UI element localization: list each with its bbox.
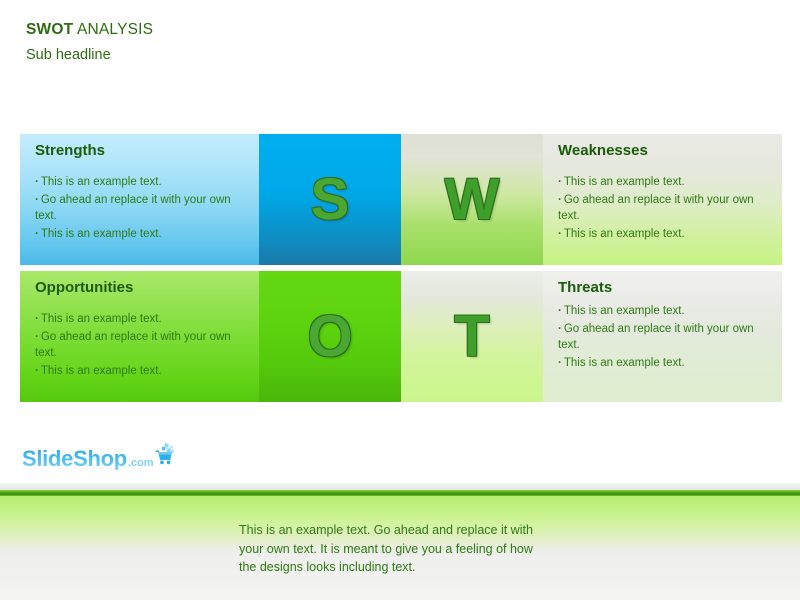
swot-row-bottom: Opportunities This is an example text. G… bbox=[20, 271, 782, 402]
footer-line-3: the designs looks including text. bbox=[239, 558, 639, 577]
quadrant-strengths[interactable]: Strengths This is an example text. Go ah… bbox=[20, 134, 259, 265]
list-item: This is an example text. bbox=[35, 363, 249, 380]
list-item: This is an example text. bbox=[558, 303, 772, 320]
quadrant-threats[interactable]: Threats This is an example text. Go ahea… bbox=[543, 271, 782, 402]
letter-block-s: S bbox=[259, 134, 401, 265]
big-letter-t: T bbox=[401, 271, 543, 402]
quadrant-heading-opportunities: Opportunities bbox=[35, 279, 133, 296]
logo-tld: .com bbox=[128, 458, 154, 470]
footer-line-1: This is an example text. Go ahead and re… bbox=[239, 521, 639, 540]
list-item: Go ahead an replace it with your own tex… bbox=[558, 321, 772, 354]
page-title: SWOT ANALYSIS bbox=[26, 22, 153, 38]
footer-line-2: your own text. It is meant to give you a… bbox=[239, 540, 639, 559]
slide-header: SWOT ANALYSIS Sub headline bbox=[26, 22, 153, 62]
list-item: This is an example text. bbox=[35, 174, 249, 191]
list-item: This is an example text. bbox=[35, 311, 249, 328]
shopping-cart-icon bbox=[155, 443, 175, 470]
letter-block-o: O bbox=[259, 271, 401, 402]
page-title-rest: ANALYSIS bbox=[73, 21, 153, 38]
quadrant-heading-weaknesses: Weaknesses bbox=[558, 142, 648, 159]
slideshop-logo[interactable]: SlideShop .com bbox=[22, 443, 175, 470]
list-item: Go ahead an replace it with your own tex… bbox=[558, 192, 772, 225]
big-letter-o: O bbox=[259, 271, 401, 402]
list-item: This is an example text. bbox=[558, 226, 772, 243]
bullet-list-weaknesses: This is an example text. Go ahead an rep… bbox=[558, 174, 772, 243]
list-item: This is an example text. bbox=[35, 226, 249, 243]
list-item: Go ahead an replace it with your own tex… bbox=[35, 329, 249, 362]
logo-wordmark: SlideShop bbox=[22, 448, 127, 470]
quadrant-weaknesses[interactable]: Weaknesses This is an example text. Go a… bbox=[543, 134, 782, 265]
big-letter-w: W bbox=[401, 134, 543, 265]
band-hairline bbox=[0, 483, 800, 490]
bullet-list-opportunities: This is an example text. Go ahead an rep… bbox=[35, 311, 249, 380]
big-letter-s: S bbox=[259, 134, 401, 265]
list-item: Go ahead an replace it with your own tex… bbox=[35, 192, 249, 225]
list-item: This is an example text. bbox=[558, 355, 772, 372]
letter-block-w: W bbox=[401, 134, 543, 265]
page-title-strong: SWOT bbox=[26, 21, 73, 38]
letter-block-t: T bbox=[401, 271, 543, 402]
quadrant-heading-strengths: Strengths bbox=[35, 142, 105, 159]
quadrant-opportunities[interactable]: Opportunities This is an example text. G… bbox=[20, 271, 259, 402]
swot-grid: Strengths This is an example text. Go ah… bbox=[20, 134, 782, 410]
quadrant-heading-threats: Threats bbox=[558, 279, 612, 296]
bullet-list-strengths: This is an example text. Go ahead an rep… bbox=[35, 174, 249, 243]
page-subtitle: Sub headline bbox=[26, 48, 153, 63]
footer-text: This is an example text. Go ahead and re… bbox=[239, 521, 639, 577]
swot-row-top: Strengths This is an example text. Go ah… bbox=[20, 134, 782, 265]
list-item: This is an example text. bbox=[558, 174, 772, 191]
bullet-list-threats: This is an example text. Go ahead an rep… bbox=[558, 303, 772, 372]
